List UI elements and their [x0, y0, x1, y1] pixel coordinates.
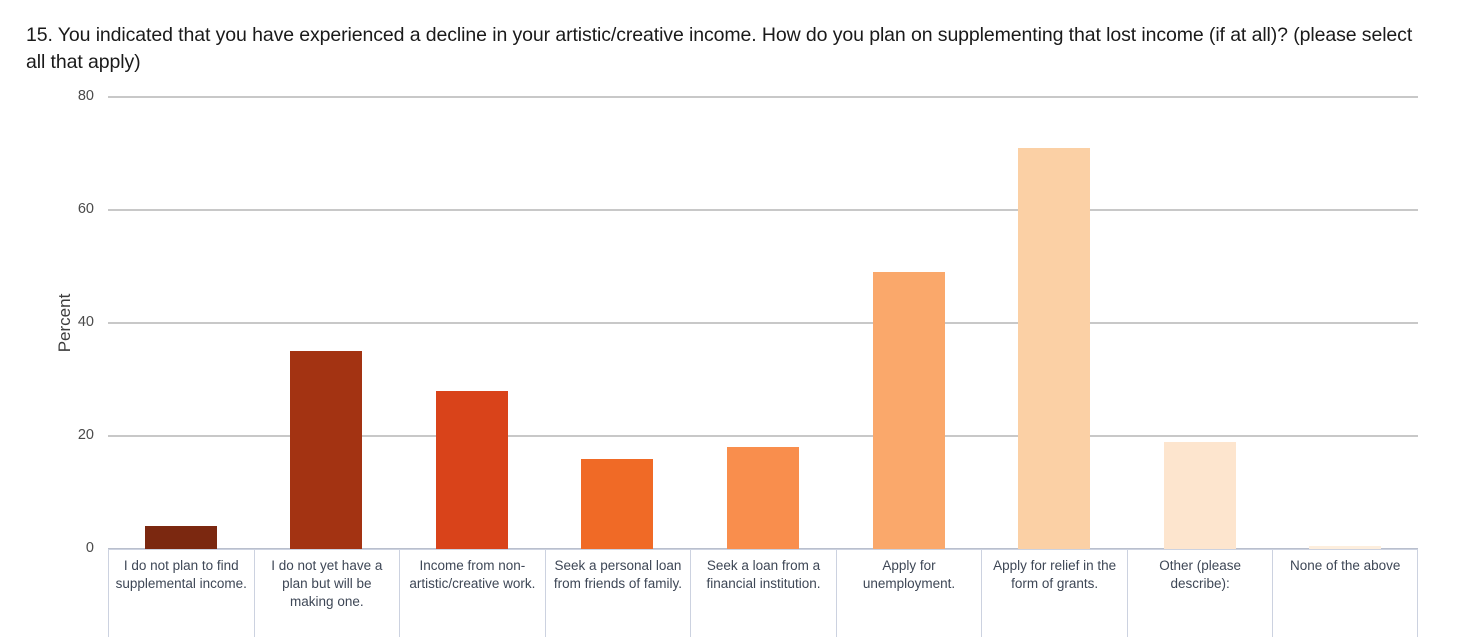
bar-slot	[981, 97, 1127, 549]
y-axis-tick-label: 40	[34, 314, 94, 330]
bar-slot	[545, 97, 691, 549]
y-axis-tick-label: 80	[34, 88, 94, 104]
plot-frame: Percent 020406080 I do not plan to find …	[0, 0, 1460, 637]
x-axis-band-rule	[1128, 549, 1273, 550]
x-axis-category-band: Apply for relief in the form of grants.	[981, 549, 1127, 637]
bar-slot	[108, 97, 254, 549]
x-axis-category-band: I do not yet have a plan but will be mak…	[254, 549, 400, 637]
y-axis-tick-label: 0	[34, 540, 94, 556]
bar-slot	[836, 97, 982, 549]
bar-slot	[690, 97, 836, 549]
x-axis-category-band: Seek a loan from a financial institution…	[690, 549, 836, 637]
x-axis-tick-label: Seek a personal loan from friends of fam…	[546, 557, 691, 593]
x-axis-band-rule	[400, 549, 545, 550]
x-axis-category-band: Apply for unemployment.	[836, 549, 982, 637]
x-axis-band-rule	[255, 549, 400, 550]
x-axis-band-rule	[1273, 549, 1417, 550]
y-axis-tick-label: 20	[34, 427, 94, 443]
x-axis-category-band: None of the above	[1272, 549, 1418, 637]
bar[interactable]	[1018, 148, 1090, 549]
x-axis-tick-label: Apply for unemployment.	[837, 557, 982, 593]
bar-slot	[1272, 97, 1418, 549]
y-axis-tick-label: 60	[34, 201, 94, 217]
x-axis-category-band: Income from non-artistic/creative work.	[399, 549, 545, 637]
x-axis-band-rule	[546, 549, 691, 550]
bar[interactable]	[873, 272, 945, 549]
x-axis-band-rule	[109, 549, 254, 550]
bar-slot	[399, 97, 545, 549]
x-axis-band-rule	[691, 549, 836, 550]
x-axis: I do not plan to find supplemental incom…	[108, 549, 1418, 637]
x-axis-tick-label: Income from non-artistic/creative work.	[400, 557, 545, 593]
x-axis-category-band: Seek a personal loan from friends of fam…	[545, 549, 691, 637]
bar-series	[108, 97, 1418, 549]
x-axis-tick-label: I do not plan to find supplemental incom…	[109, 557, 254, 593]
bar-slot	[254, 97, 400, 549]
chart-page: 15. You indicated that you have experien…	[0, 0, 1460, 637]
x-axis-tick-label: I do not yet have a plan but will be mak…	[255, 557, 400, 611]
x-axis-band-rule	[982, 549, 1127, 550]
x-axis-category-band: I do not plan to find supplemental incom…	[108, 549, 254, 637]
x-axis-tick-label: Seek a loan from a financial institution…	[691, 557, 836, 593]
x-axis-tick-label: Apply for relief in the form of grants.	[982, 557, 1127, 593]
x-axis-category-band: Other (please describe):	[1127, 549, 1273, 637]
x-axis-tick-label: Other (please describe):	[1128, 557, 1273, 593]
x-axis-tick-label: None of the above	[1273, 557, 1417, 575]
x-axis-band-rule	[837, 549, 982, 550]
bar[interactable]	[290, 351, 362, 549]
bar[interactable]	[145, 526, 217, 549]
bar[interactable]	[1164, 442, 1236, 549]
bar[interactable]	[436, 391, 508, 549]
bar-slot	[1127, 97, 1273, 549]
bar[interactable]	[581, 459, 653, 549]
bar[interactable]	[727, 447, 799, 549]
